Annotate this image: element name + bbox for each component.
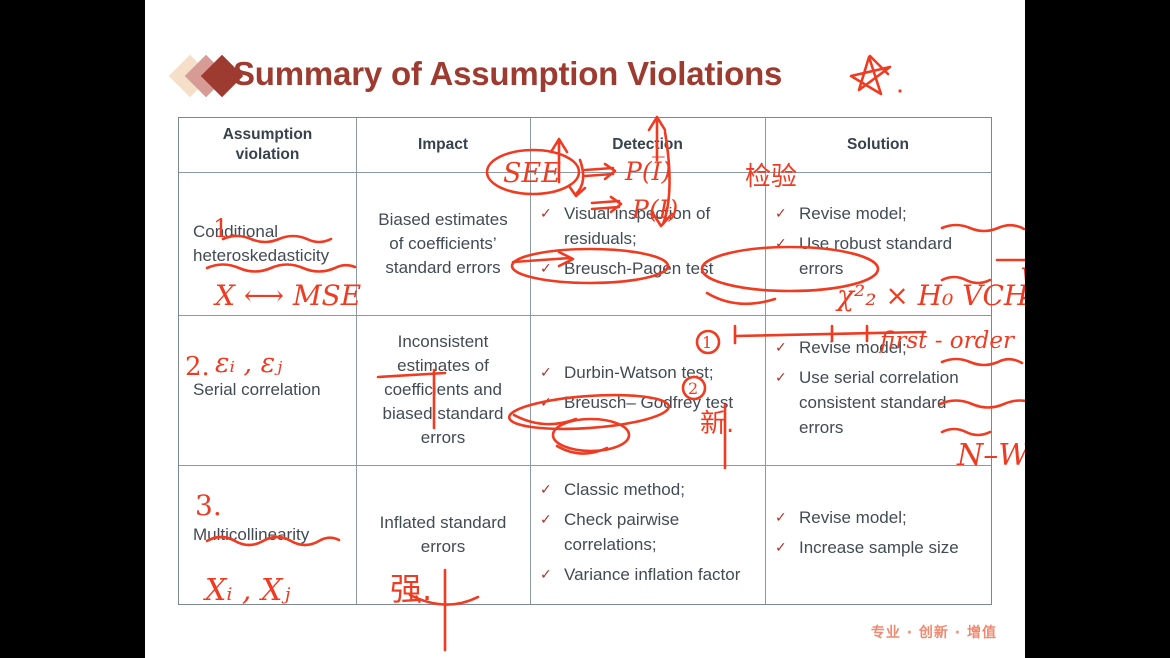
check-icon: ✓ — [775, 201, 787, 226]
detection-2-item-2: Breusch– Godfrey test — [564, 393, 733, 412]
solution-1-item-2: Use robust standard errors — [799, 234, 952, 278]
check-icon: ✓ — [775, 231, 787, 256]
cell-solution-1: ✓Revise model; ✓Use robust standard erro… — [765, 172, 991, 315]
table-header-violation-line1: Assumption — [223, 125, 313, 145]
table-header-violation: Assumption violation — [179, 118, 356, 172]
slide-footer: 专业 · 创新 · 增值 — [871, 622, 997, 642]
table-row: Serial correlation — [179, 315, 356, 465]
detection-3-item-1: Classic method; — [564, 480, 685, 499]
detection-2-item-1: Durbin-Watson test; — [564, 363, 714, 382]
cell-impact-1: Biased estimates of coefficients’ standa… — [356, 172, 530, 315]
detection-list-3: ✓Classic method; ✓Check pairwise correla… — [538, 477, 757, 592]
solution-3-item-1: Revise model; — [799, 508, 907, 527]
cell-impact-2-line4: biased standard — [383, 402, 504, 426]
detection-list-1: ✓Visual inspection of residuals; ✓Breusc… — [538, 201, 757, 286]
list-item: ✓Check pairwise correlations; — [538, 507, 757, 557]
slide-canvas: Summary of Assumption Violations Assu — [145, 0, 1025, 658]
list-item: ✓Revise model; — [773, 335, 983, 360]
cell-impact-1-line3: standard errors — [385, 256, 500, 280]
table-header-detection: Detection — [530, 118, 765, 172]
detection-list-2: ✓Durbin-Watson test; ✓Breusch– Godfrey t… — [538, 360, 733, 420]
letterbox-right — [1025, 0, 1170, 658]
cell-impact-2-line3: coefficients and — [384, 378, 502, 402]
check-icon: ✓ — [540, 201, 552, 226]
detection-1-item-1: Visual inspection of residuals; — [564, 204, 710, 248]
table-header-impact: Impact — [356, 118, 530, 172]
check-icon: ✓ — [540, 256, 552, 281]
check-icon: ✓ — [775, 505, 787, 530]
cell-detection-2: ✓Durbin-Watson test; ✓Breusch– Godfrey t… — [530, 315, 765, 465]
solution-list-1: ✓Revise model; ✓Use robust standard erro… — [773, 201, 983, 286]
detection-3-item-3: Variance inflation factor — [564, 565, 740, 584]
solution-2-item-1: Revise model; — [799, 338, 907, 357]
cell-violation-3: Multicollinearity — [193, 523, 309, 547]
check-icon: ✓ — [775, 335, 787, 360]
solution-1-item-1: Revise model; — [799, 204, 907, 223]
list-item: ✓Use serial correlation consistent stand… — [773, 365, 983, 440]
summary-table: Assumption violation Impact Detection So… — [178, 117, 992, 605]
cell-impact-2: Inconsistent estimates of coefficients a… — [356, 315, 530, 465]
solution-list-2: ✓Revise model; ✓Use serial correlation c… — [773, 335, 983, 445]
solution-list-3: ✓Revise model; ✓Increase sample size — [773, 505, 959, 565]
list-item: ✓Breusch– Godfrey test — [538, 390, 733, 415]
cell-impact-1-line1: Biased estimates — [378, 208, 507, 232]
slide-title-row: Summary of Assumption Violations — [175, 48, 1005, 104]
list-item: ✓Classic method; — [538, 477, 757, 502]
star-doodle-icon — [843, 50, 905, 102]
cell-solution-3: ✓Revise model; ✓Increase sample size — [765, 465, 991, 604]
cell-detection-1: ✓Visual inspection of residuals; ✓Breusc… — [530, 172, 765, 315]
cell-impact-2-line1: Inconsistent — [398, 330, 489, 354]
list-item: ✓Durbin-Watson test; — [538, 360, 733, 385]
table-row: Conditional heteroskedasticity — [179, 172, 356, 315]
detection-1-item-2: Breusch-Pagen test — [564, 259, 713, 278]
cell-violation-1: Conditional heteroskedasticity — [193, 220, 348, 268]
list-item: ✓Increase sample size — [773, 535, 959, 560]
cell-impact-2-line2: estimates of — [397, 354, 489, 378]
solution-2-item-2: Use serial correlation consistent standa… — [799, 368, 959, 437]
check-icon: ✓ — [540, 477, 552, 502]
cell-impact-2-line5: errors — [421, 426, 465, 450]
list-item: ✓Revise model; — [773, 505, 959, 530]
detection-3-item-2: Check pairwise correlations; — [564, 510, 679, 554]
cell-impact-1-line2: of coefficients’ — [389, 232, 496, 256]
page-title: Summary of Assumption Violations — [233, 48, 782, 100]
check-icon: ✓ — [775, 535, 787, 560]
check-icon: ✓ — [540, 390, 552, 415]
table-row: Multicollinearity — [179, 465, 356, 604]
cell-impact-3: Inflated standard errors — [356, 465, 530, 604]
cell-solution-2: ✓Revise model; ✓Use serial correlation c… — [765, 315, 991, 465]
list-item: ✓Variance inflation factor — [538, 562, 757, 587]
cell-impact-3-line2: errors — [421, 535, 465, 559]
check-icon: ✓ — [540, 507, 552, 532]
table-header-solution: Solution — [765, 118, 991, 172]
solution-3-item-2: Increase sample size — [799, 538, 959, 557]
check-icon: ✓ — [540, 562, 552, 587]
slide-stage: Summary of Assumption Violations Assu — [0, 0, 1170, 658]
table-header-violation-line2: violation — [223, 145, 313, 165]
letterbox-left — [0, 0, 145, 658]
list-item: ✓Revise model; — [773, 201, 983, 226]
check-icon: ✓ — [775, 365, 787, 390]
cell-impact-3-line1: Inflated standard — [380, 511, 507, 535]
list-item: ✓Visual inspection of residuals; — [538, 201, 757, 251]
check-icon: ✓ — [540, 360, 552, 385]
cell-violation-2: Serial correlation — [193, 378, 321, 402]
list-item: ✓Breusch-Pagen test — [538, 256, 757, 281]
cell-detection-3: ✓Classic method; ✓Check pairwise correla… — [530, 465, 765, 604]
list-item: ✓Use robust standard errors — [773, 231, 983, 281]
